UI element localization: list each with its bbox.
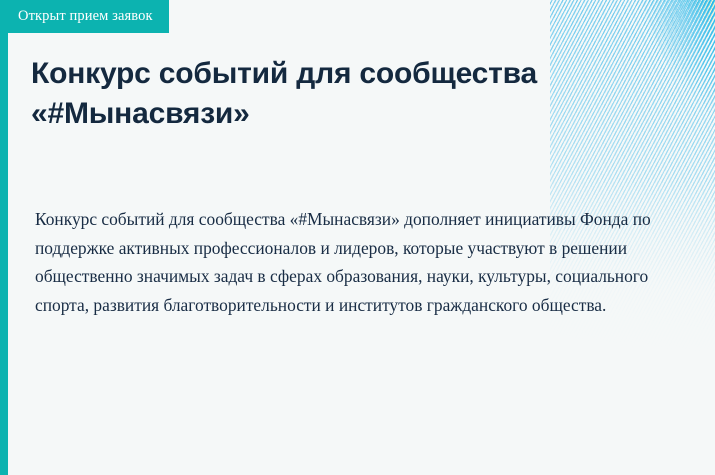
status-badge: Открыт прием заявок xyxy=(0,0,169,33)
card-content: Конкурс событий для сообщества «#Мынасвя… xyxy=(0,0,715,319)
description-text: Конкурс событий для сообщества «#Мынасвя… xyxy=(35,205,655,319)
promo-card: Открыт прием заявок Конкурс событий для … xyxy=(0,0,715,475)
page-title: Конкурс событий для сообщества «#Мынасвя… xyxy=(31,54,591,134)
status-badge-label: Открыт прием заявок xyxy=(18,8,153,25)
